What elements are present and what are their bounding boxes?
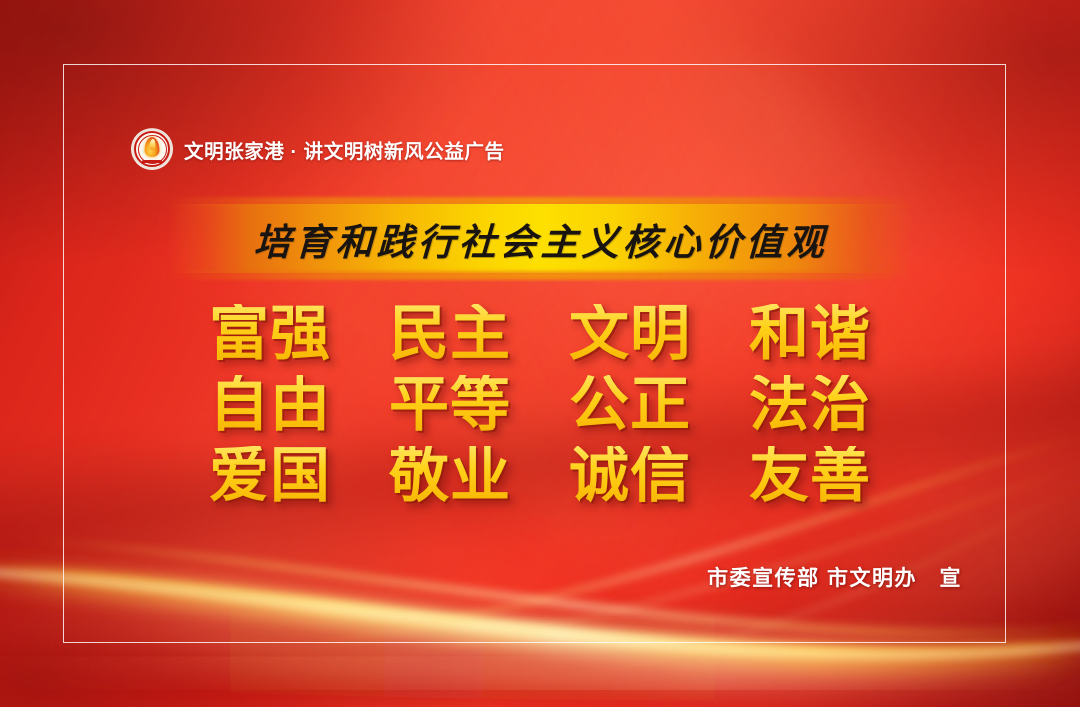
core-value-word: 富强 <box>180 304 360 364</box>
core-value-word: 和谐 <box>720 304 900 364</box>
banner-title-text: 培育和践行社会主义核心价值观 <box>167 204 915 273</box>
core-value-word: 公正 <box>540 375 720 435</box>
core-values-row: 爱国 敬业 诚信 友善 <box>180 440 900 511</box>
poster-footer-attribution: 市委宣传部 市文明办 宣 <box>707 562 962 592</box>
core-value-word: 敬业 <box>360 446 540 506</box>
core-values-row: 自由 平等 公正 法治 <box>180 369 900 440</box>
poster-canvas: 文明张家港 · 讲文明树新风公益广告 培育和践行社会主义核心价值观 富强 民主 … <box>0 0 1080 707</box>
core-value-word: 诚信 <box>540 446 720 506</box>
banner-ribbon: 培育和践行社会主义核心价值观 <box>168 204 914 273</box>
poster-header: 文明张家港 · 讲文明树新风公益广告 <box>131 128 505 170</box>
header-campaign-label: 文明张家港 · 讲文明树新风公益广告 <box>184 135 505 164</box>
civility-emblem-icon <box>131 128 173 170</box>
core-value-word: 自由 <box>180 375 360 435</box>
core-value-word: 爱国 <box>180 446 360 506</box>
core-value-word: 文明 <box>540 304 720 364</box>
core-value-word: 民主 <box>360 304 540 364</box>
core-value-word: 法治 <box>720 375 900 435</box>
core-value-word: 友善 <box>720 446 900 506</box>
core-values-grid: 富强 民主 文明 和谐 自由 平等 公正 法治 爱国 敬业 诚信 友善 <box>180 298 900 511</box>
core-value-word: 平等 <box>360 375 540 435</box>
core-values-row: 富强 民主 文明 和谐 <box>180 298 900 369</box>
